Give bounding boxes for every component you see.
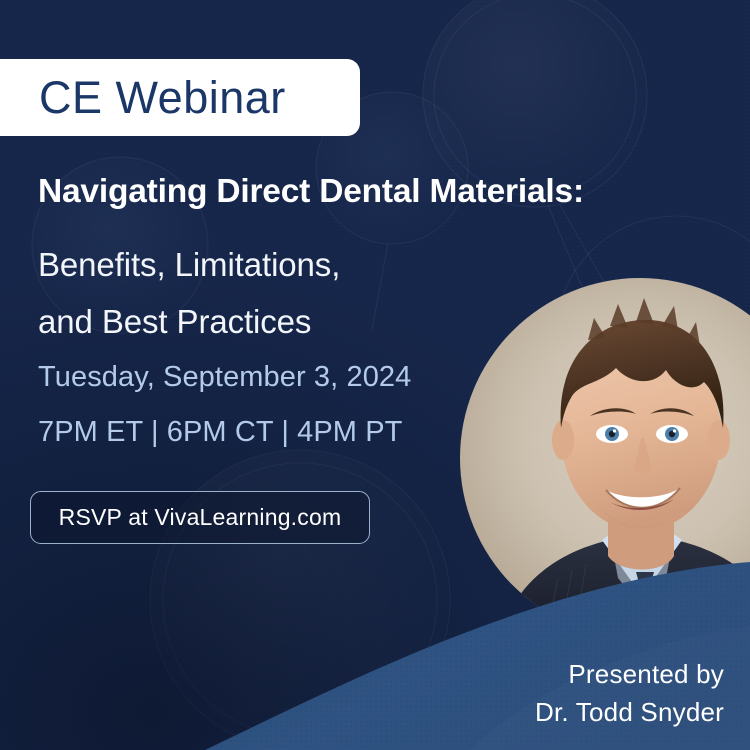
webinar-title: Navigating Direct Dental Materials: (38, 173, 728, 211)
webinar-subtitle-line-2: and Best Practices (38, 293, 508, 350)
ce-webinar-badge-label: CE Webinar (0, 75, 286, 120)
webinar-promo-graphic: CE Webinar Navigating Direct Dental Mate… (0, 0, 750, 750)
webinar-subtitle: Benefits, Limitations, and Best Practice… (38, 236, 508, 350)
ce-webinar-badge: CE Webinar (0, 59, 360, 136)
presenter-credit: Presented by Dr. Todd Snyder (535, 655, 724, 731)
webinar-subtitle-line-1: Benefits, Limitations, (38, 236, 508, 293)
presented-by-label: Presented by (535, 655, 724, 693)
presenter-name: Dr. Todd Snyder (535, 693, 724, 731)
webinar-date: Tuesday, September 3, 2024 (38, 350, 411, 405)
webinar-times: 7PM ET | 6PM CT | 4PM PT (38, 405, 411, 460)
rsvp-button-label: RSVP at VivaLearning.com (59, 504, 342, 531)
rsvp-button[interactable]: RSVP at VivaLearning.com (30, 491, 370, 544)
webinar-schedule: Tuesday, September 3, 2024 7PM ET | 6PM … (38, 350, 411, 460)
